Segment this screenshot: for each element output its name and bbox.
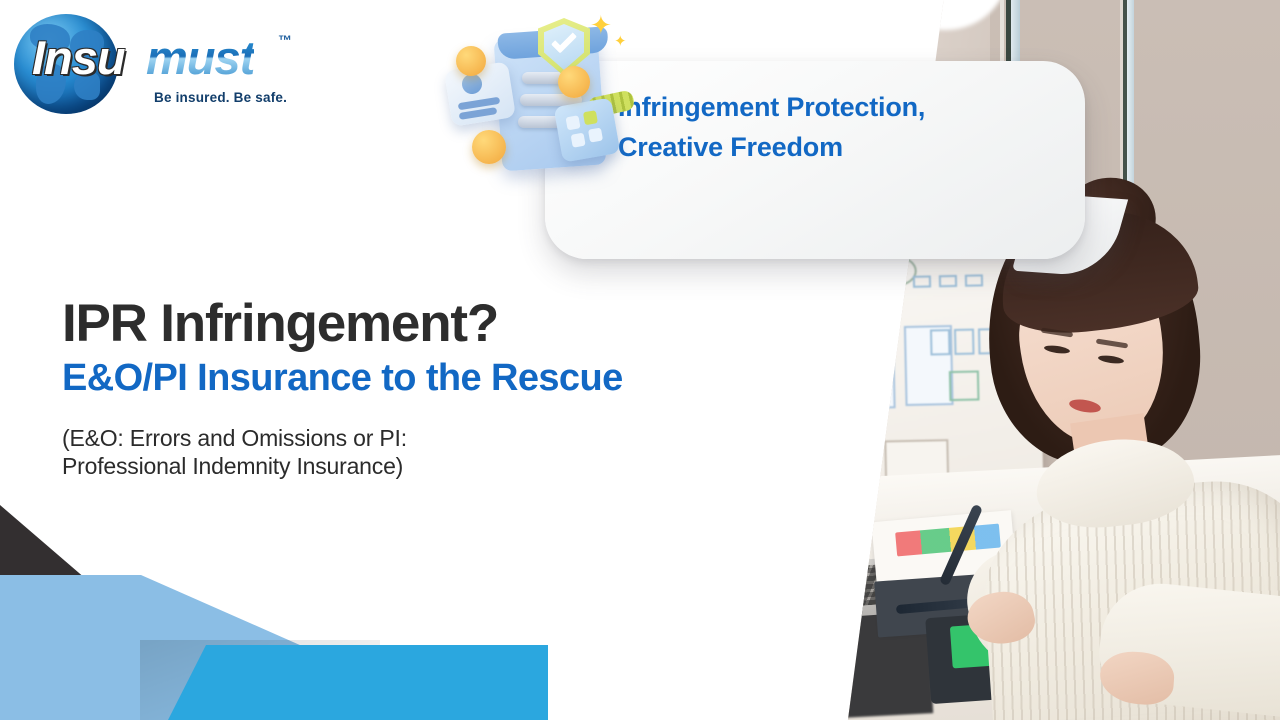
- callout-text: Infringement Protection, Creative Freedo…: [618, 88, 1068, 168]
- coin-icon: [456, 46, 486, 76]
- page-subtitle: E&O/PI Insurance to the Rescue: [62, 358, 752, 400]
- sparkle-icon: ✦: [614, 34, 627, 49]
- logo-text-primary: Insu: [32, 30, 125, 85]
- callout-line-2: Creative Freedom: [618, 128, 1068, 168]
- decor-dark-triangle: [0, 505, 250, 720]
- calculator-icon: [554, 97, 621, 162]
- callout-line-1: Infringement Protection,: [618, 92, 925, 122]
- insurance-document-3d-icon: ✦ ✦: [440, 8, 650, 188]
- sketch-lower-card: [790, 441, 859, 494]
- sketch-phone-wireframe: [846, 328, 896, 409]
- headline-note-line-1: (E&O: Errors and Omissions or PI:: [62, 425, 407, 451]
- sketch-flow-node: [949, 370, 980, 401]
- headline-note: (E&O: Errors and Omissions or PI: Profes…: [62, 424, 752, 480]
- sketch-flow-node: [913, 275, 931, 287]
- calculator-key: [566, 115, 581, 130]
- sketch-phone-wireframe: [788, 331, 838, 412]
- sketch-flow-node: [930, 329, 951, 355]
- sketch-flow-node: [965, 274, 983, 286]
- brand-logo[interactable]: Insu must ™ Be insured. Be safe.: [14, 8, 314, 120]
- brand-tagline: Be insured. Be safe.: [154, 90, 287, 105]
- logo-text-secondary: must: [146, 30, 254, 85]
- sketch-circle: [876, 256, 917, 287]
- trademark-symbol: ™: [278, 32, 292, 48]
- banner-canvas: Infringement Protection, Creative Freedo…: [0, 0, 1280, 720]
- coin-icon: [558, 66, 590, 98]
- decorative-shapes: [0, 490, 620, 720]
- calculator-key: [588, 128, 603, 143]
- calculator-key: [571, 133, 586, 148]
- headline-block: IPR Infringement? E&O/PI Insurance to th…: [62, 296, 752, 480]
- sketch-flow-node: [954, 329, 975, 355]
- calculator-key-accent: [583, 110, 598, 125]
- coin-icon: [472, 130, 506, 164]
- sketch-box: [793, 263, 861, 288]
- page-title: IPR Infringement?: [62, 296, 752, 352]
- decor-light-blue-parallelogram: [0, 575, 470, 720]
- headline-note-line-2: Professional Indemnity Insurance): [62, 453, 403, 479]
- decor-shadow: [140, 640, 380, 720]
- decor-bright-blue-parallelogram: [168, 645, 548, 720]
- sketch-flow-node: [939, 275, 957, 287]
- sparkle-icon: ✦: [590, 12, 612, 38]
